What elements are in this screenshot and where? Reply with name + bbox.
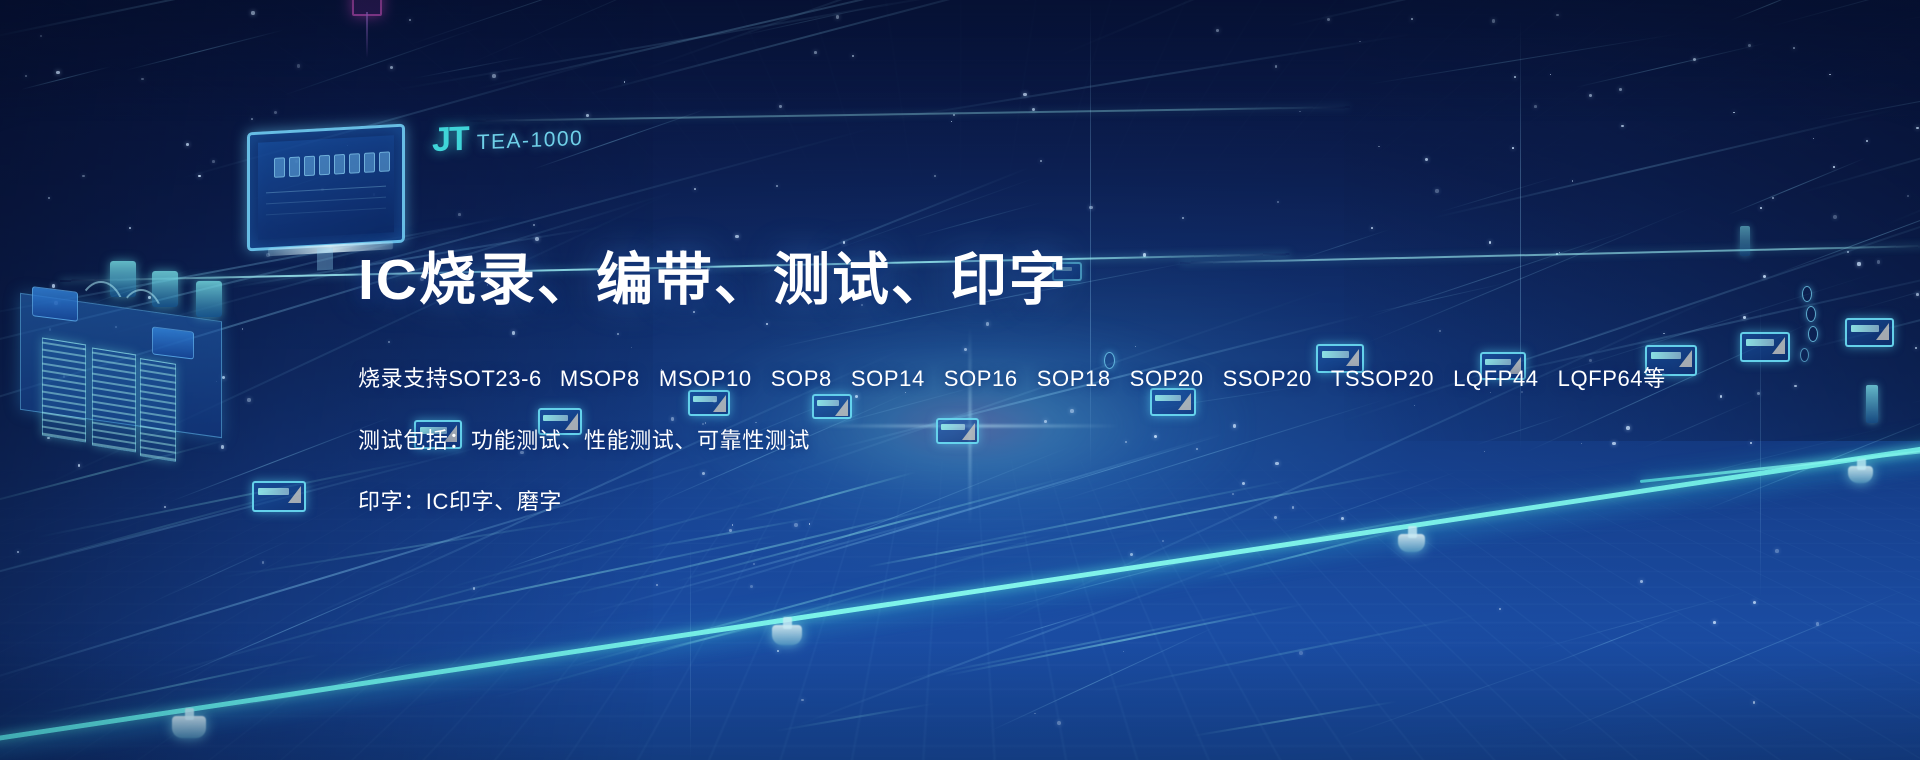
machinery-silhouette <box>0 255 245 470</box>
machine-cylinder-3 <box>196 281 222 317</box>
ceiling-fixture-icon <box>352 0 382 16</box>
packages-list: MSOP8MSOP10SOP8SOP14SOP16SOP18SOP20SSOP2… <box>560 366 1666 391</box>
packages-lead: 烧录支持SOT23-6 <box>358 366 542 391</box>
monitor-display <box>247 124 405 252</box>
package-label: SOP14 <box>851 366 925 391</box>
package-label: SOP18 <box>1037 366 1111 391</box>
monitor-chip-row <box>274 151 390 177</box>
monitor-scanline-2 <box>266 197 386 205</box>
package-label: SSOP20 <box>1223 366 1312 391</box>
logo-mark: JT <box>432 120 468 160</box>
indicator-pill-2 <box>1802 286 1812 302</box>
marking-line: 印字：IC印字、磨字 <box>358 491 1758 513</box>
machine-module-1 <box>32 286 78 322</box>
monitor-scanline-3 <box>266 207 386 215</box>
monitor-screen <box>258 135 394 240</box>
package-label: SOP20 <box>1130 366 1204 391</box>
machine-fin-1 <box>42 338 86 443</box>
logo-model: TEA-1000 <box>477 127 584 155</box>
indicator-bar-1 <box>1866 385 1878 423</box>
package-label: MSOP8 <box>560 366 640 391</box>
indicator-pill-5 <box>1800 348 1809 362</box>
indicator-pill-4 <box>1808 326 1818 342</box>
monitor-scanline-1 <box>266 186 386 194</box>
package-label: MSOP10 <box>659 366 752 391</box>
package-label: SOP16 <box>944 366 1018 391</box>
banner-text-block: IC烧录、编带、测试、印字 烧录支持SOT23-6MSOP8MSOP10SOP8… <box>358 248 1758 513</box>
package-label: TSSOP20 <box>1331 366 1434 391</box>
fixture-drop-line <box>366 12 368 58</box>
page-title: IC烧录、编带、测试、印字 <box>358 248 1758 314</box>
chip-icon-1 <box>252 481 306 512</box>
equipment-logo: JT TEA-1000 <box>432 115 583 160</box>
monitor-stand <box>317 248 333 271</box>
packages-line: 烧录支持SOT23-6MSOP8MSOP10SOP8SOP14SOP16SOP1… <box>358 368 1758 390</box>
rail-mount-2 <box>772 625 802 645</box>
machine-fin-3 <box>140 358 176 462</box>
package-label: LQFP64等 <box>1558 366 1666 391</box>
chip-icon-12 <box>1845 318 1894 347</box>
banner-root: JT TEA-1000 IC烧录、编带、测试、 <box>0 0 1920 760</box>
rail-mount-4 <box>1848 466 1873 483</box>
machine-fin-2 <box>92 348 136 453</box>
testing-line: 测试包括：功能测试、性能测试、可靠性测试 <box>358 430 1758 452</box>
indicator-pill-3 <box>1806 306 1816 322</box>
machine-module-2 <box>152 326 194 359</box>
package-label: LQFP44 <box>1453 366 1539 391</box>
rail-mount-3 <box>1398 534 1425 552</box>
rail-mount-1 <box>172 716 206 738</box>
package-label: SOP8 <box>771 366 832 391</box>
